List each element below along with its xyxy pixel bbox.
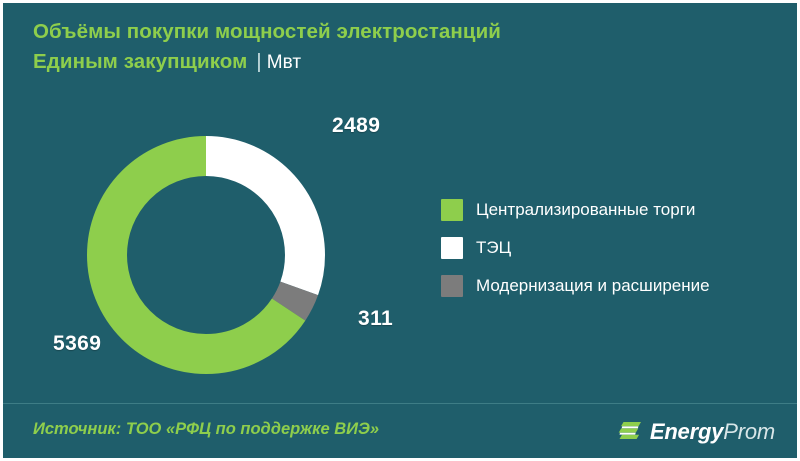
donut-chart: [84, 133, 328, 377]
legend-label-tec: ТЭЦ: [476, 238, 511, 258]
data-label-centralized-trades: 5369: [53, 332, 101, 356]
source-note: Источник: ТОО «РФЦ по поддержке ВИЭ»: [33, 420, 379, 439]
legend-item-tec[interactable]: ТЭЦ: [441, 229, 791, 267]
stacked-bars-icon: [617, 420, 643, 445]
legend-item-centralized-trades[interactable]: Централизированные торги: [441, 191, 791, 229]
energyprom-logo[interactable]: EnergyProm: [617, 417, 775, 447]
legend-label-centralized-trades: Централизированные торги: [476, 200, 695, 220]
page-title-text-2: Единым закупщиком: [33, 50, 247, 73]
legend-swatch-white: [441, 237, 463, 259]
data-label-modernization: 311: [358, 307, 393, 331]
chart-footer: Источник: ТОО «РФЦ по поддержке ВИЭ» Ene…: [3, 403, 797, 458]
page-title-line-1: Объёмы покупки мощностей электростанций: [33, 17, 797, 47]
logo-text-energy: Energy: [650, 419, 723, 444]
title-separator: |: [247, 51, 266, 73]
logo-text-prom: Prom: [723, 419, 775, 444]
chart-plot-area: 2489 311 5369 Централизированные торги Т…: [3, 87, 797, 405]
legend-item-modernization[interactable]: Модернизация и расширение: [441, 267, 791, 305]
page-title-text-1: Объёмы покупки мощностей электростанций: [33, 20, 501, 43]
chart-canvas: Объёмы покупки мощностей электростанций …: [0, 0, 800, 461]
page-title-line-2: Единым закупщиком|Мвт: [33, 47, 797, 78]
donut-chart-svg: [84, 133, 328, 377]
chart-legend: Централизированные торги ТЭЦ Модернизаци…: [441, 191, 791, 305]
legend-swatch-green: [441, 199, 463, 221]
title-unit-label: Мвт: [267, 52, 302, 73]
legend-swatch-gray: [441, 275, 463, 297]
data-label-tec: 2489: [332, 114, 380, 138]
logo-wordmark: EnergyProm: [650, 419, 775, 445]
chart-header: Объёмы покупки мощностей электростанций …: [3, 3, 797, 87]
legend-label-modernization: Модернизация и расширение: [476, 276, 710, 296]
